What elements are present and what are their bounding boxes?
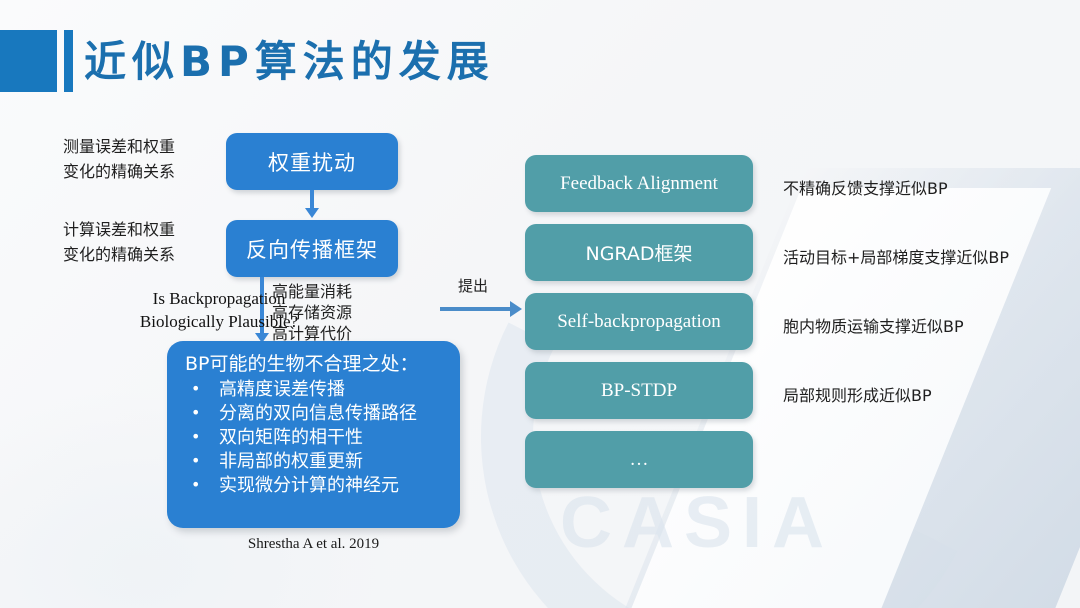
title-accent-square	[0, 30, 57, 92]
box-backprop-framework[interactable]: 反向传播框架	[226, 220, 398, 277]
box-bp-stdp[interactable]: BP-STDP	[525, 362, 753, 419]
casia-watermark: CASIA	[560, 482, 834, 564]
slide-canvas: CASIA 近似BP算法的发展 测量误差和权重 变化的精确关系 计算误差和权重 …	[0, 0, 1080, 608]
box-bp-implausibility[interactable]: BP可能的生物不合理之处： 高精度误差传播 分离的双向信息传播路径 双向矩阵的相…	[167, 341, 460, 528]
description-self-backpropagation: 胞内物质运输支撑近似BP	[783, 313, 964, 337]
down-arrow-shaft-1	[310, 190, 314, 210]
label-computation-error-relation: 计算误差和权重 变化的精确关系	[63, 217, 175, 267]
connector-arrow-head	[510, 301, 522, 317]
list-item: 高精度误差传播	[185, 378, 460, 402]
description-bp-stdp: 局部规则形成近似BP	[783, 382, 932, 406]
box-weight-perturbation[interactable]: 权重扰动	[226, 133, 398, 190]
box-self-backpropagation[interactable]: Self-backpropagation	[525, 293, 753, 350]
page-title: 近似BP算法的发展	[84, 28, 495, 89]
title-accent-bar	[64, 30, 73, 92]
label-measurement-error-relation: 测量误差和权重 变化的精确关系	[63, 134, 175, 184]
cost-drawbacks-list: 高能量消耗 高存储资源 高计算代价	[272, 281, 352, 344]
connector-arrow-shaft	[440, 307, 512, 311]
description-ngrad-framework: 活动目标+局部梯度支撑近似BP	[783, 244, 1009, 268]
list-item: 双向矩阵的相干性	[185, 426, 460, 450]
list-item: 非局部的权重更新	[185, 450, 460, 474]
box-ngrad-framework[interactable]: NGRAD框架	[525, 224, 753, 281]
connector-label-proposes: 提出	[458, 275, 488, 296]
box-more-methods[interactable]: …	[525, 431, 753, 488]
citation-text: Shrestha A et al. 2019	[167, 536, 460, 553]
description-feedback-alignment: 不精确反馈支撑近似BP	[783, 175, 948, 199]
box-feedback-alignment[interactable]: Feedback Alignment	[525, 155, 753, 212]
list-item: 实现微分计算的神经元	[185, 474, 460, 498]
bullet-box-heading: BP可能的生物不合理之处：	[185, 351, 460, 377]
down-arrow-head-1	[305, 208, 319, 218]
list-item: 分离的双向信息传播路径	[185, 402, 460, 426]
bullet-list: 高精度误差传播 分离的双向信息传播路径 双向矩阵的相干性 非局部的权重更新 实现…	[185, 378, 460, 498]
